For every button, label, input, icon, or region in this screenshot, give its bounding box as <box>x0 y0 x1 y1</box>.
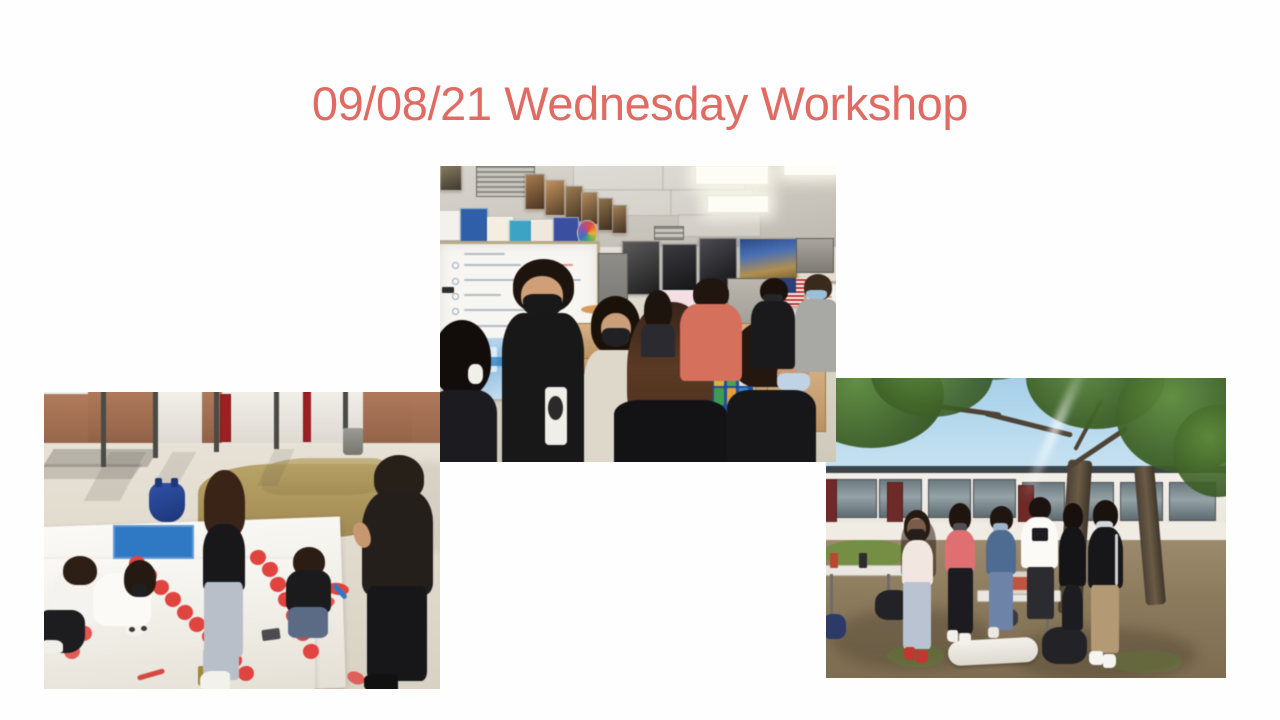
photo-outdoor-group[interactable] <box>826 378 1226 678</box>
outdoor-group-scene <box>826 378 1226 678</box>
photo-banner-painting[interactable] <box>44 392 440 689</box>
page-title: 09/08/21 Wednesday Workshop <box>0 76 1280 132</box>
banner-painting-scene <box>44 392 440 689</box>
presentation-slide: 09/08/21 Wednesday Workshop <box>0 0 1280 720</box>
classroom-workshop-scene <box>440 166 836 462</box>
photo-classroom-workshop[interactable] <box>440 166 836 462</box>
